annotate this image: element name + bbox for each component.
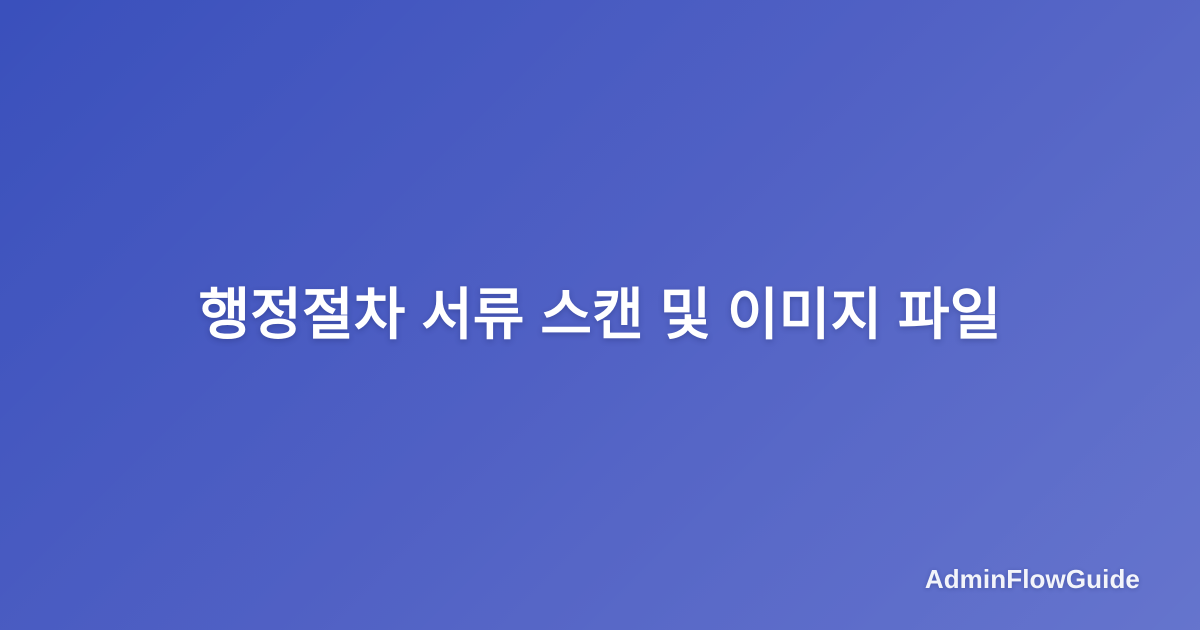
title-area: 행정절차 서류 스캔 및 이미지 파일 bbox=[0, 0, 1200, 630]
og-image-card: 행정절차 서류 스캔 및 이미지 파일 AdminFlowGuide bbox=[0, 0, 1200, 630]
page-title: 행정절차 서류 스캔 및 이미지 파일 bbox=[199, 279, 1002, 351]
site-watermark: AdminFlowGuide bbox=[925, 566, 1140, 592]
